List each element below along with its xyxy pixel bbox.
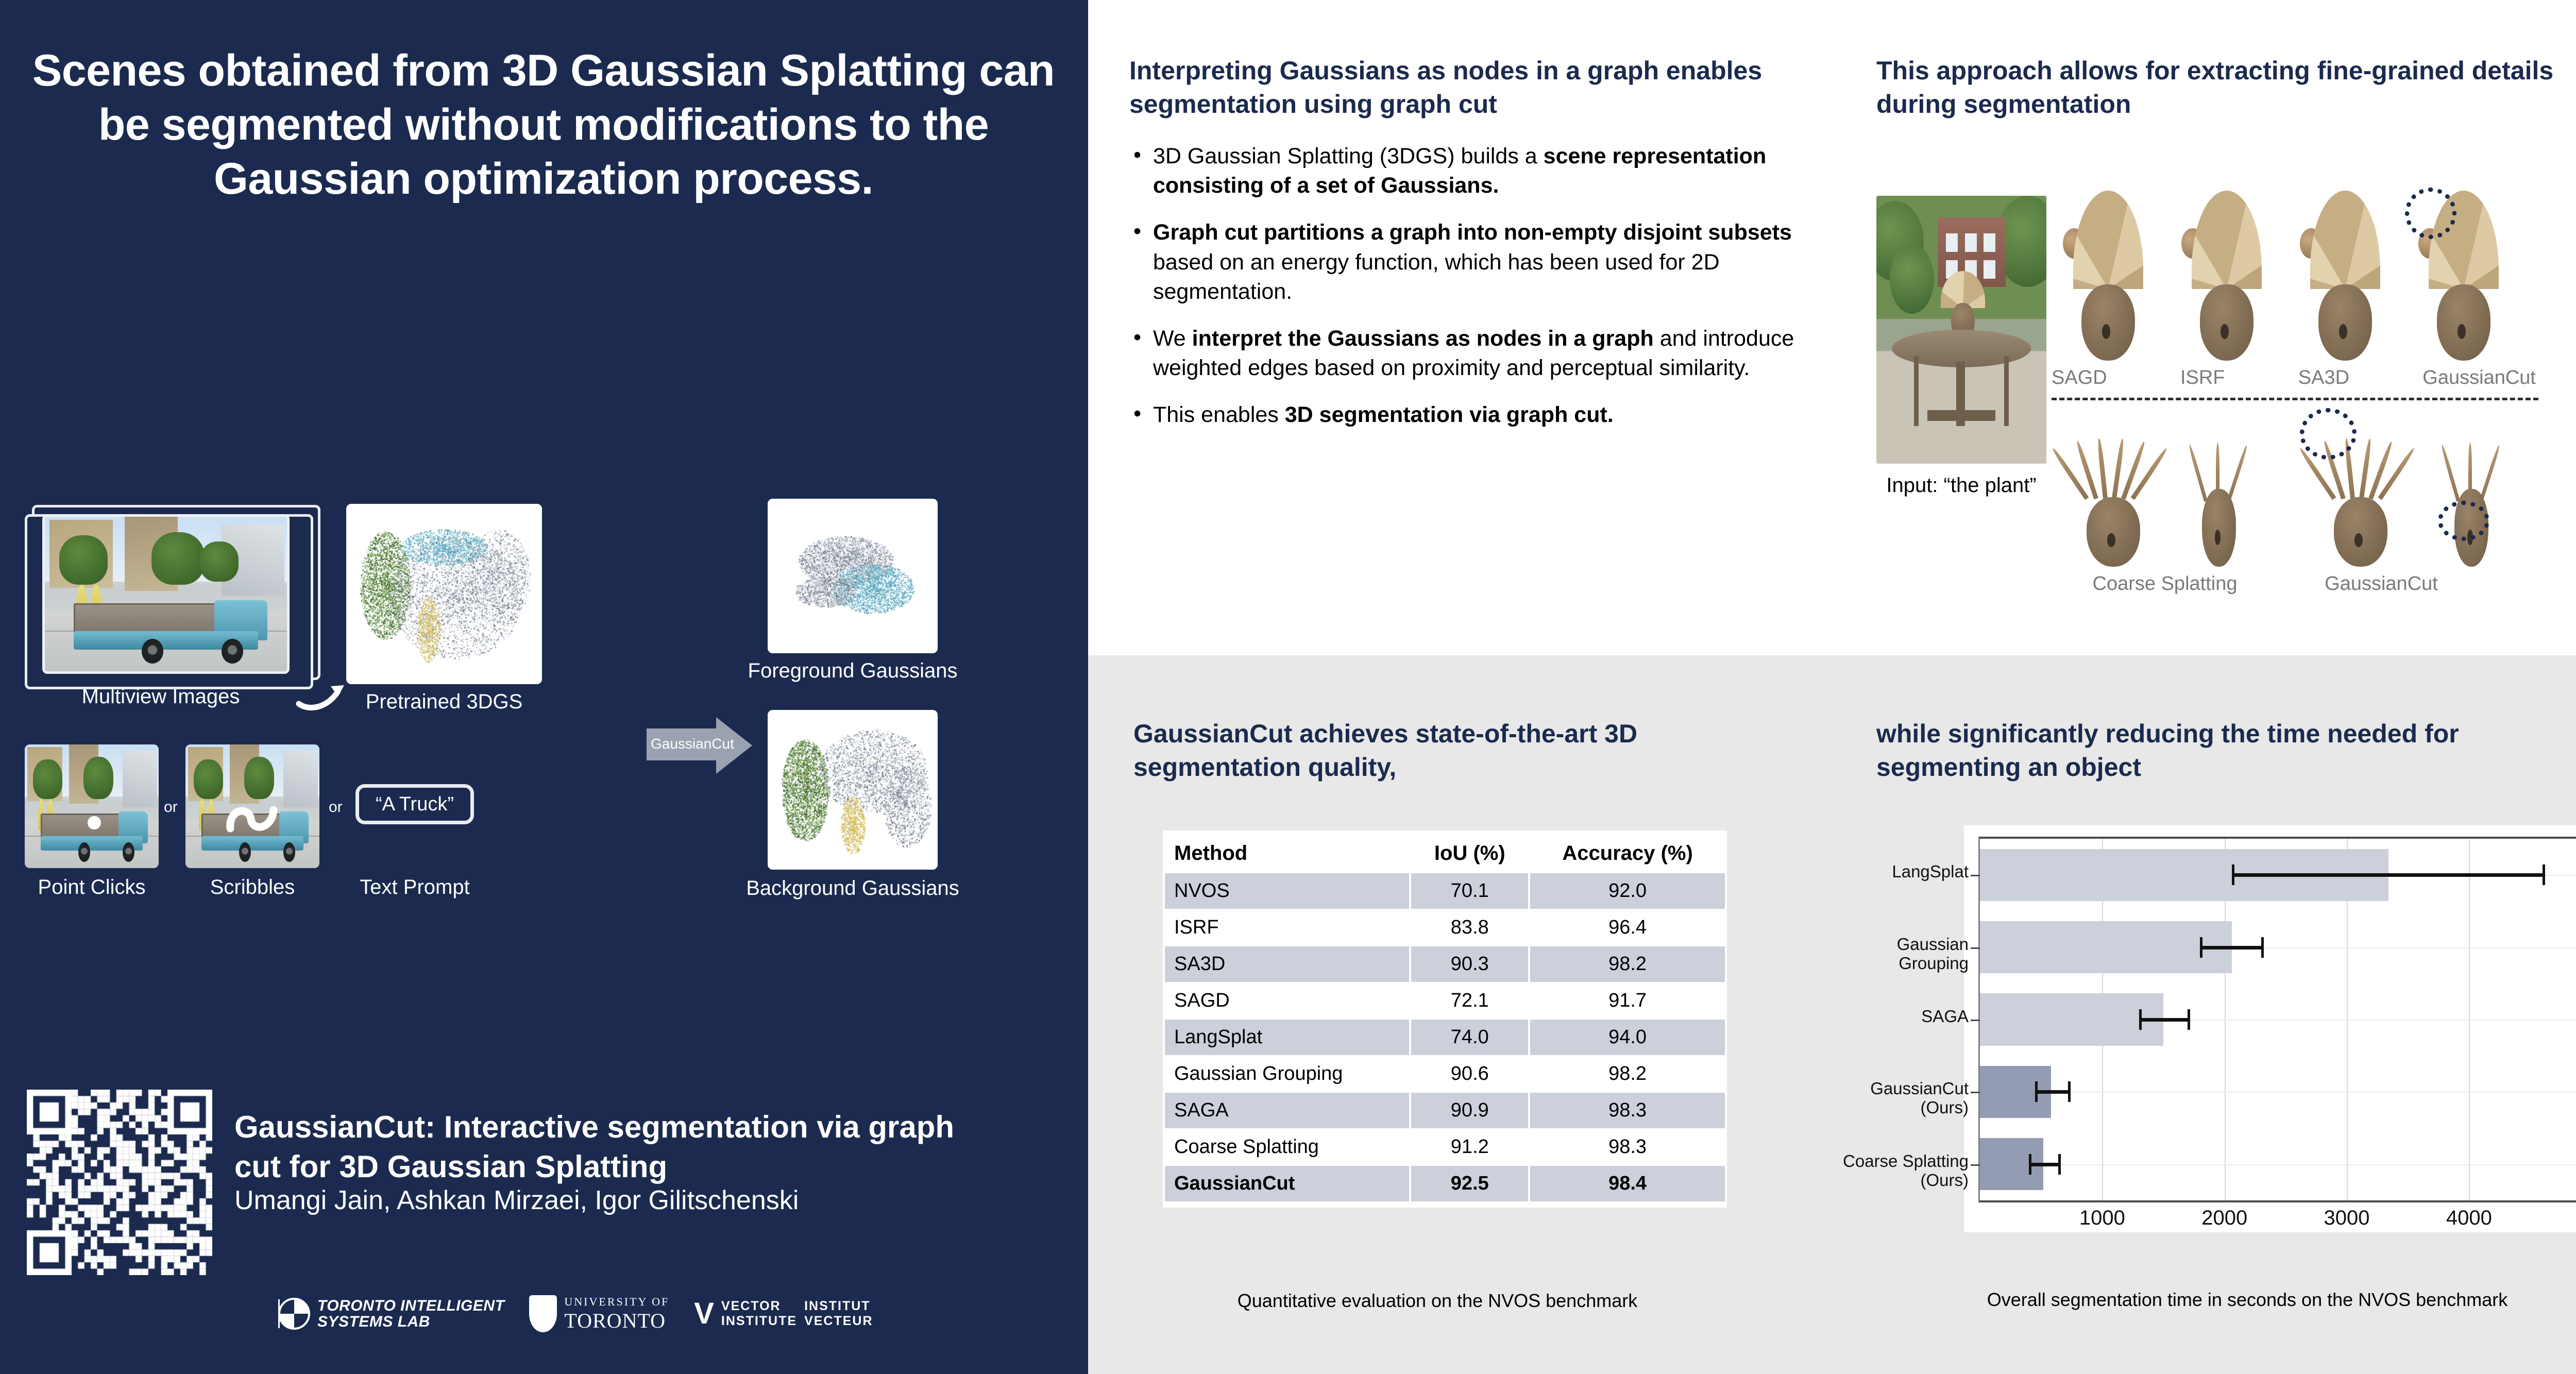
gaussiancut-arrow-label: GaussianCut [651, 736, 728, 752]
plant-comparison-grid: SAGD ISRF SA3D GaussianCut [2052, 185, 2576, 608]
cell-iou: 90.3 [1411, 946, 1528, 982]
multiview-image [42, 514, 290, 674]
error-bar-cap [2035, 1081, 2038, 1102]
error-bar-cap [2200, 937, 2202, 958]
poster-headline: Scenes obtained from 3D Gaussian Splatti… [21, 44, 1066, 206]
x-tick-label: 1000 [2066, 1207, 2138, 1230]
error-bar-cap [2068, 1081, 2071, 1102]
curve-arrow-icon [295, 665, 351, 711]
error-bar [2232, 873, 2543, 877]
error-bar-cap [2188, 1009, 2190, 1030]
table-row: Coarse Splatting91.298.3 [1165, 1129, 1725, 1165]
uoft-crest-icon [529, 1295, 557, 1332]
error-bar [2139, 1018, 2188, 1022]
caption-background-gaussians: Background Gaussians [732, 877, 974, 900]
left-panel: Scenes obtained from 3D Gaussian Splatti… [0, 0, 1088, 1374]
cell-accuracy: 98.2 [1530, 1056, 1725, 1092]
foreground-gaussians-image [768, 499, 938, 653]
qr-code[interactable] [27, 1090, 212, 1275]
plant-isrf [2175, 191, 2278, 361]
x-tick-label: 4000 [2433, 1207, 2505, 1230]
plant-label-coarse-splatting: Coarse Splatting [2057, 573, 2273, 595]
cell-iou: 74.0 [1411, 1020, 1528, 1055]
table-row: NVOS70.192.0 [1165, 873, 1725, 909]
table-row: LangSplat74.094.0 [1165, 1020, 1725, 1055]
cell-method: SAGA [1165, 1093, 1409, 1128]
error-bar [2200, 946, 2261, 949]
cell-method: LangSplat [1165, 1020, 1409, 1055]
table-row: SA3D90.398.2 [1165, 946, 1725, 982]
x-tick-label: 2000 [2189, 1207, 2261, 1230]
quadrant-a-bullet-list: 3D Gaussian Splatting (3DGS) builds a sc… [1129, 142, 1809, 430]
cell-iou: 92.5 [1411, 1166, 1528, 1201]
y-axis-label: GaussianCut(Ours) [1831, 1079, 1969, 1117]
plant-gaussiancut-row2-a [2309, 412, 2412, 567]
chart-plot-area: 1000200030004000LangSplatGaussianGroupin… [1978, 837, 2576, 1202]
cell-accuracy: 91.7 [1530, 983, 1725, 1019]
quadrant-a-title: Interpreting Gaussians as nodes in a gra… [1129, 54, 1809, 121]
plant-label-gaussiancut-row2: GaussianCut [2273, 573, 2489, 595]
table-row: SAGD72.191.7 [1165, 983, 1725, 1019]
cell-iou: 72.1 [1411, 983, 1528, 1019]
bullet-item-2: Graph cut partitions a graph into non-em… [1129, 218, 1809, 307]
col-header-method: Method [1165, 835, 1409, 872]
highlight-circle-row2-b [2438, 501, 2489, 541]
background-gaussians-image [768, 710, 938, 870]
plant-label-gaussiancut: GaussianCut [2422, 367, 2536, 389]
tisl-mark-icon [278, 1298, 310, 1330]
caption-scribbles: Scribbles [175, 876, 330, 899]
error-bar-cap [2543, 864, 2545, 885]
input-plant-caption: Input: “the plant” [1876, 474, 2046, 497]
quadrant-c-title: GaussianCut achieves state-of-the-art 3D… [1133, 717, 1741, 784]
y-tick [1971, 1164, 1980, 1166]
cell-method: NVOS [1165, 873, 1409, 909]
vector-line3: INSTITUT [804, 1299, 873, 1314]
table-caption: Quantitative evaluation on the NVOS benc… [1133, 1290, 1741, 1312]
logo-row: TORONTO INTELLIGENT SYSTEMS LAB UNIVERSI… [278, 1283, 1041, 1345]
table-row: ISRF83.896.4 [1165, 910, 1725, 945]
cell-method: GaussianCut [1165, 1166, 1409, 1201]
plant-gaussiancut-row1 [2412, 191, 2515, 361]
col-header-accuracy: Accuracy (%) [1530, 835, 1725, 872]
row-divider-dashed [2052, 398, 2538, 400]
error-bar-cap [2139, 1009, 2142, 1030]
plant-label-isrf: ISRF [2180, 367, 2225, 389]
caption-pretrained-3dgs: Pretrained 3DGS [346, 690, 542, 714]
cell-iou: 83.8 [1411, 910, 1528, 945]
highlight-circle-row2-a [2300, 408, 2357, 460]
input-plant-photo [1876, 196, 2046, 464]
caption-foreground-gaussians: Foreground Gaussians [732, 659, 974, 683]
quadrant-d-title: while significantly reducing the time ne… [1876, 717, 2576, 784]
right-bottom-section: GaussianCut achieves state-of-the-art 3D… [1088, 655, 2576, 1374]
point-clicks-image[interactable] [25, 744, 159, 868]
plant-coarse-splatting-a [2062, 412, 2165, 567]
uoft-line1: UNIVERSITY OF [564, 1295, 669, 1309]
scribble-stroke [223, 796, 280, 840]
cell-accuracy: 98.3 [1530, 1129, 1725, 1165]
error-bar [2035, 1090, 2068, 1094]
or-label-1: or [164, 799, 178, 816]
quadrant-graph-cut: Interpreting Gaussians as nodes in a gra… [1129, 54, 1809, 448]
quadrant-results-table: GaussianCut achieves state-of-the-art 3D… [1133, 717, 1741, 784]
uoft-line2: TORONTO [564, 1309, 669, 1333]
logo-university-of-toronto: UNIVERSITY OF TORONTO [529, 1295, 669, 1333]
highlight-circle-row1 [2405, 188, 2456, 239]
chart-bar [1980, 993, 2163, 1045]
results-table-container: Method IoU (%) Accuracy (%) NVOS70.192.0… [1163, 830, 1727, 1208]
plant-label-sa3d: SA3D [2298, 367, 2349, 389]
cell-accuracy: 94.0 [1530, 1020, 1725, 1055]
gaussiancut-arrow: GaussianCut [647, 717, 752, 774]
cell-iou: 91.2 [1411, 1129, 1528, 1165]
cell-accuracy: 98.3 [1530, 1093, 1725, 1128]
cell-method: SA3D [1165, 946, 1409, 982]
cell-accuracy: 98.2 [1530, 946, 1725, 982]
chart-bar [1980, 921, 2232, 973]
bullet-item-4: This enables 3D segmentation via graph c… [1129, 400, 1809, 430]
cell-method: SAGD [1165, 983, 1409, 1019]
footer-paper-title: GaussianCut: Interactive segmentation vi… [234, 1108, 1007, 1187]
col-header-iou: IoU (%) [1411, 835, 1528, 872]
results-table: Method IoU (%) Accuracy (%) NVOS70.192.0… [1163, 834, 1727, 1202]
plant-coarse-splatting-b [2180, 417, 2258, 567]
plant-row1-labels: SAGD ISRF SA3D GaussianCut [2052, 367, 2536, 389]
table-row: Gaussian Grouping90.698.2 [1165, 1056, 1725, 1092]
error-bar-cap [2029, 1154, 2031, 1175]
cell-iou: 90.6 [1411, 1056, 1528, 1092]
plant-row2-labels: Coarse Splatting GaussianCut [2057, 573, 2520, 595]
vector-line1: VECTOR [721, 1299, 797, 1314]
cell-iou: 70.1 [1411, 873, 1528, 909]
y-tick [1971, 947, 1980, 949]
y-axis-label: LangSplat [1831, 862, 1969, 881]
vector-line2: INSTITUTE [721, 1314, 797, 1329]
scribbles-image[interactable] [185, 744, 319, 868]
plant-sa3d [2294, 191, 2397, 361]
caption-text-prompt: Text Prompt [340, 876, 489, 899]
cell-accuracy: 92.0 [1530, 873, 1725, 909]
error-bar-cap [2232, 864, 2234, 885]
table-row: GaussianCut92.598.4 [1165, 1166, 1725, 1201]
table-header-row: Method IoU (%) Accuracy (%) [1165, 835, 1725, 872]
caption-multiview-images: Multiview Images [32, 685, 290, 708]
y-axis-label: GaussianGrouping [1831, 935, 1969, 973]
error-bar-cap [2261, 937, 2264, 958]
footer-authors: Umangi Jain, Ashkan Mirzaei, Igor Gilits… [234, 1185, 1007, 1216]
y-tick [1971, 1092, 1980, 1093]
timing-chart: 1000200030004000LangSplatGaussianGroupin… [1964, 825, 2576, 1232]
text-prompt-box[interactable]: “A Truck” [355, 784, 474, 824]
chart-caption: Overall segmentation time in seconds on … [1856, 1289, 2576, 1311]
tisl-line1: TORONTO INTELLIGENT [317, 1298, 504, 1314]
quadrant-b-figure: Input: “the plant” SAGD ISRF SA3D Gaussi… [1876, 180, 2576, 608]
plant-sagd [2057, 191, 2160, 361]
cell-method: Gaussian Grouping [1165, 1056, 1409, 1092]
cell-accuracy: 96.4 [1530, 910, 1725, 945]
quadrant-fine-grained: This approach allows for extracting fine… [1876, 54, 2576, 121]
cell-method: Coarse Splatting [1165, 1129, 1409, 1165]
quadrant-b-title: This approach allows for extracting fine… [1876, 54, 2576, 121]
cell-accuracy: 98.4 [1530, 1166, 1725, 1201]
vector-v-icon: V [694, 1299, 714, 1329]
logo-toronto-intelligent-systems-lab: TORONTO INTELLIGENT SYSTEMS LAB [278, 1298, 504, 1330]
plant-label-sagd: SAGD [2052, 367, 2107, 389]
error-bar-cap [2058, 1154, 2061, 1175]
tisl-line2: SYSTEMS LAB [317, 1314, 504, 1330]
right-top-section: Interpreting Gaussians as nodes in a gra… [1088, 0, 2576, 655]
table-row: SAGA90.998.3 [1165, 1093, 1725, 1128]
caption-point-clicks: Point Clicks [14, 876, 169, 899]
pretrained-3dgs-image [346, 504, 542, 684]
y-tick [1971, 875, 1980, 876]
or-label-2: or [329, 799, 343, 816]
error-bar [2029, 1163, 2058, 1166]
plant-gaussiancut-row2-b [2433, 417, 2510, 567]
cell-method: ISRF [1165, 910, 1409, 945]
vector-line4: VECTEUR [804, 1314, 873, 1329]
y-axis-label: SAGA [1831, 1007, 1969, 1026]
logo-vector-institute: V VECTOR INSTITUTE INSTITUT VECTEUR [694, 1299, 873, 1329]
chart-category-line [1980, 1164, 2576, 1165]
y-tick [1971, 1020, 1980, 1021]
x-tick-label: 3000 [2311, 1207, 2383, 1230]
vector-divider [278, 1299, 280, 1328]
y-axis-label: Coarse Splatting(Ours) [1831, 1152, 1969, 1190]
quadrant-timing-chart: while significantly reducing the time ne… [1876, 717, 2576, 784]
bullet-item-3: We interpret the Gaussians as nodes in a… [1129, 324, 1809, 383]
pipeline-figure: Multiview Images Pretrained 3DGS Gaussia… [0, 495, 1088, 1010]
cell-iou: 90.9 [1411, 1093, 1528, 1128]
text-prompt-value: “A Truck” [376, 793, 454, 816]
bullet-item-1: 3D Gaussian Splatting (3DGS) builds a sc… [1129, 142, 1809, 200]
